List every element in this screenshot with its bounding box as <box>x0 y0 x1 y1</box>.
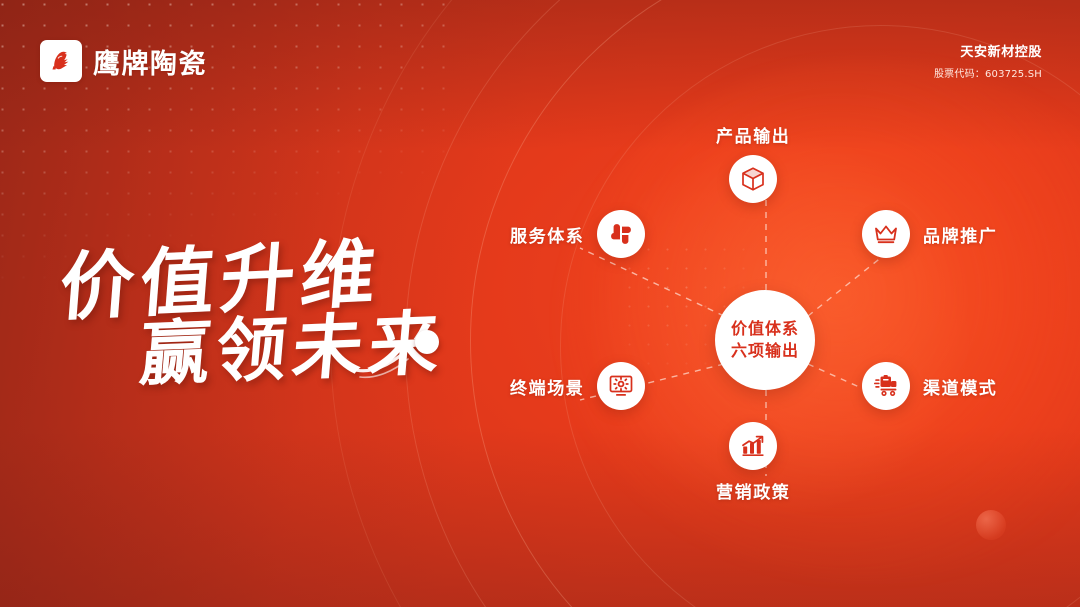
diagram-center-node[interactable]: 价值体系 六项输出 <box>715 290 815 390</box>
monitor-gear-icon <box>597 362 645 410</box>
delivery-truck-icon <box>862 362 910 410</box>
brand-name: 鹰牌陶瓷 <box>93 42 207 81</box>
node-label: 渠道模式 <box>923 374 997 399</box>
node-label: 品牌推广 <box>923 222 997 247</box>
cube-icon <box>729 155 777 203</box>
center-line-2: 六项输出 <box>731 342 799 360</box>
diagram-node-brand-promotion[interactable]: 品牌推广 <box>862 210 997 258</box>
node-label: 产品输出 <box>716 122 790 147</box>
corporate-name: 天安新材控股 <box>934 41 1042 60</box>
diagram-node-marketing-policy[interactable]: 营销政策 <box>716 422 790 503</box>
node-label: 营销政策 <box>716 478 790 503</box>
brush-splash-dot <box>415 330 439 354</box>
brush-tail-icon <box>350 325 460 385</box>
node-label: 终端场景 <box>510 374 584 399</box>
node-label: 服务体系 <box>510 222 584 247</box>
diagram-node-channel-model[interactable]: 渠道模式 <box>862 362 997 410</box>
diagram-node-service-system[interactable]: 服务体系 <box>510 210 645 258</box>
promo-banner: 鹰牌陶瓷 天安新材控股 股票代码：603725.SH 价值升维 赢领未来 <box>0 0 1080 607</box>
center-line-1: 价值体系 <box>731 320 799 338</box>
growth-chart-icon <box>729 422 777 470</box>
clover-icon <box>597 210 645 258</box>
value-system-diagram: 价值体系 六项输出 产品输出 <box>480 100 1080 570</box>
stock-code: 股票代码：603725.SH <box>934 65 1042 80</box>
corporate-info: 天安新材控股 股票代码：603725.SH <box>934 41 1042 80</box>
diagram-node-product-output[interactable]: 产品输出 <box>716 122 790 203</box>
brand-logo[interactable]: 鹰牌陶瓷 <box>40 40 207 82</box>
diagram-node-terminal-scene[interactable]: 终端场景 <box>510 362 645 410</box>
crown-icon <box>862 210 910 258</box>
eagle-icon <box>40 40 82 82</box>
